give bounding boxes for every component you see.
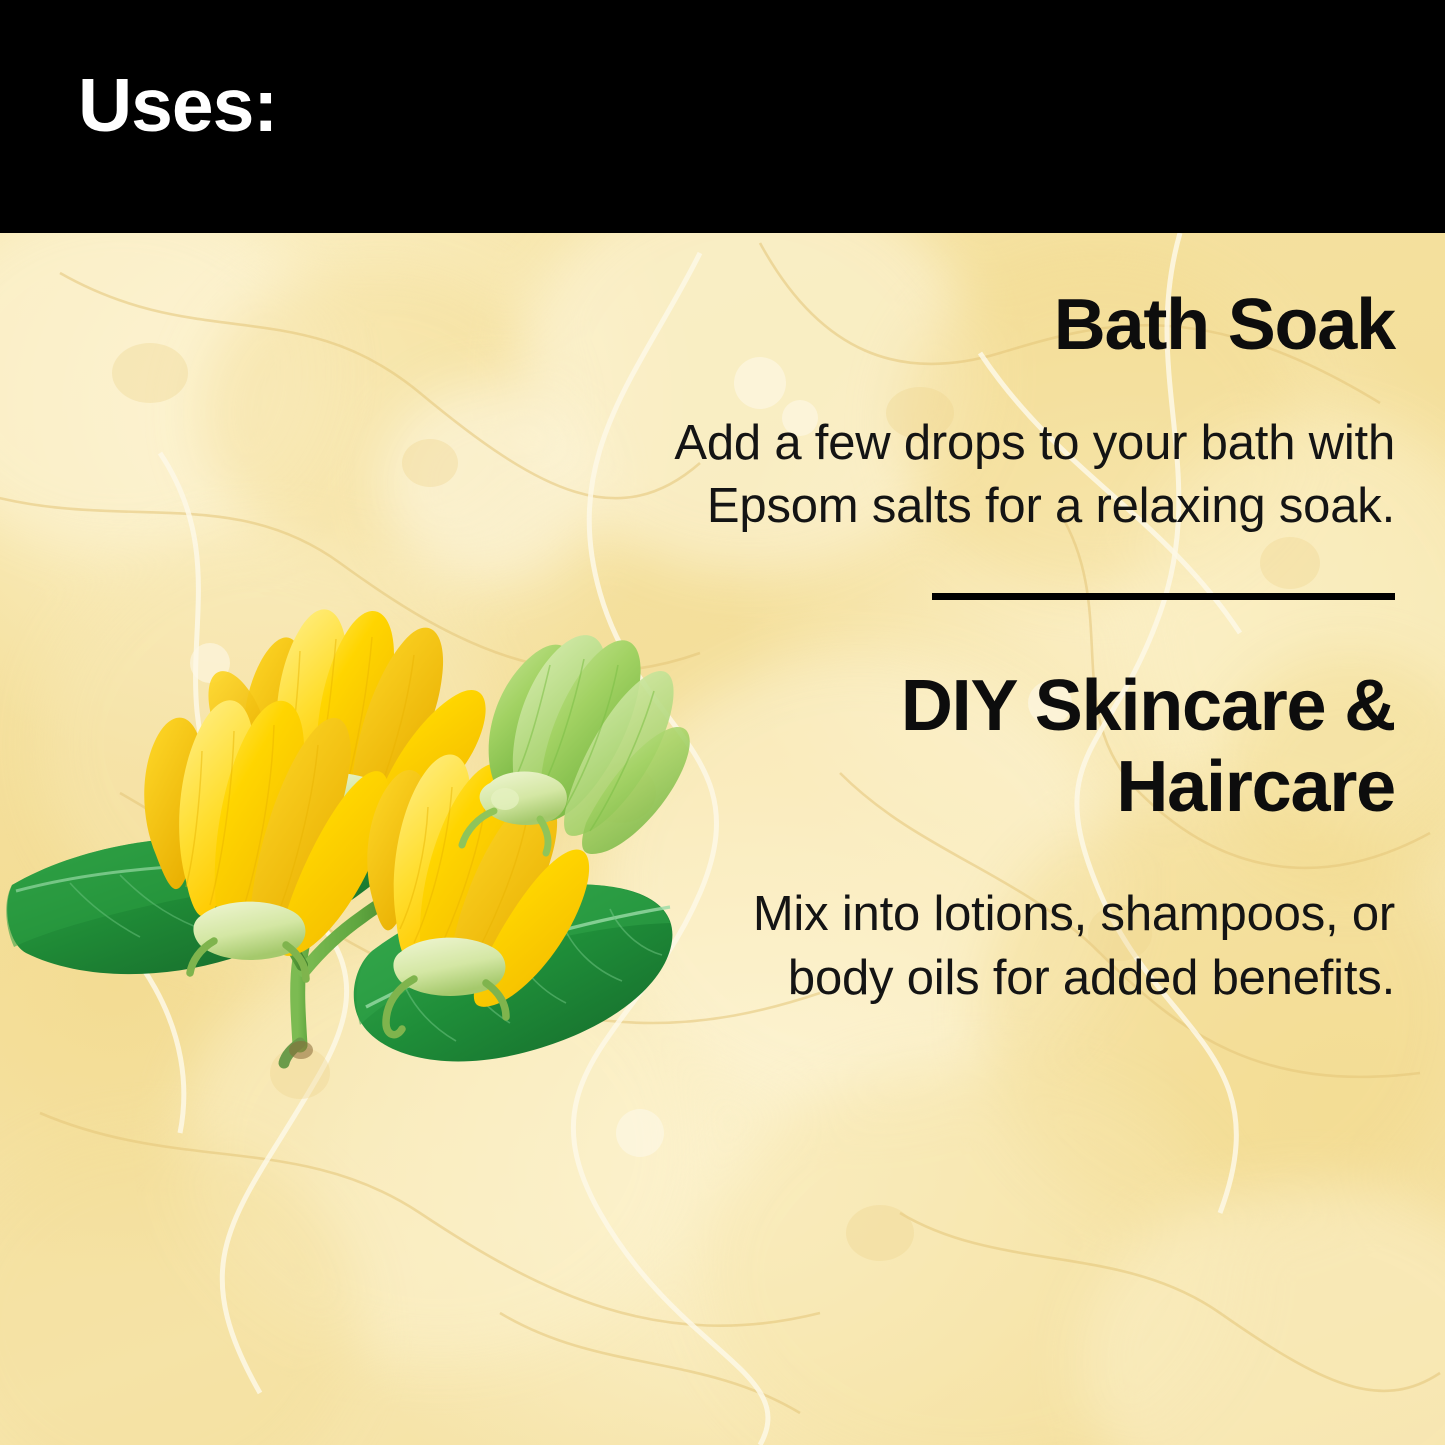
- header-bar: Uses:: [0, 0, 1445, 233]
- page-title: Uses:: [78, 66, 277, 145]
- section-divider: [932, 593, 1395, 600]
- section-body-diy-skincare-haircare: Mix into lotions, shampoos, or body oils…: [635, 883, 1395, 1010]
- section-body-bath-soak: Add a few drops to your bath with Epsom …: [635, 412, 1395, 539]
- section-title-bath-soak: Bath Soak: [635, 285, 1395, 366]
- uses-text-column: Bath Soak Add a few drops to your bath w…: [635, 233, 1395, 1011]
- ylang-ylang-flower-illustration: [0, 555, 680, 1085]
- poster-canvas: Uses:: [0, 0, 1445, 1445]
- section-title-diy-skincare-haircare: DIY Skincare & Haircare: [635, 666, 1395, 827]
